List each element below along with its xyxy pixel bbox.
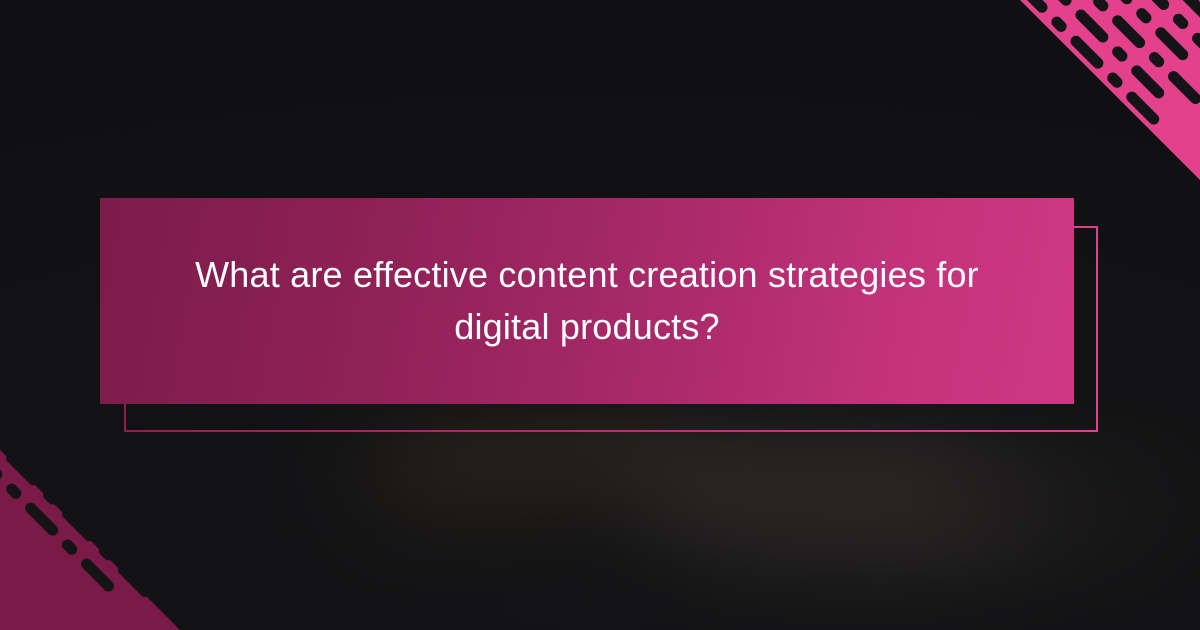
headline-banner: What are effective content creation stra… [100, 198, 1074, 404]
page-title: What are effective content creation stra… [192, 249, 982, 353]
bottom-left-diagonal-dash-pattern-icon [0, 450, 200, 630]
top-right-diagonal-dash-pattern-icon [1000, 0, 1200, 180]
social-card: What are effective content creation stra… [0, 0, 1200, 630]
